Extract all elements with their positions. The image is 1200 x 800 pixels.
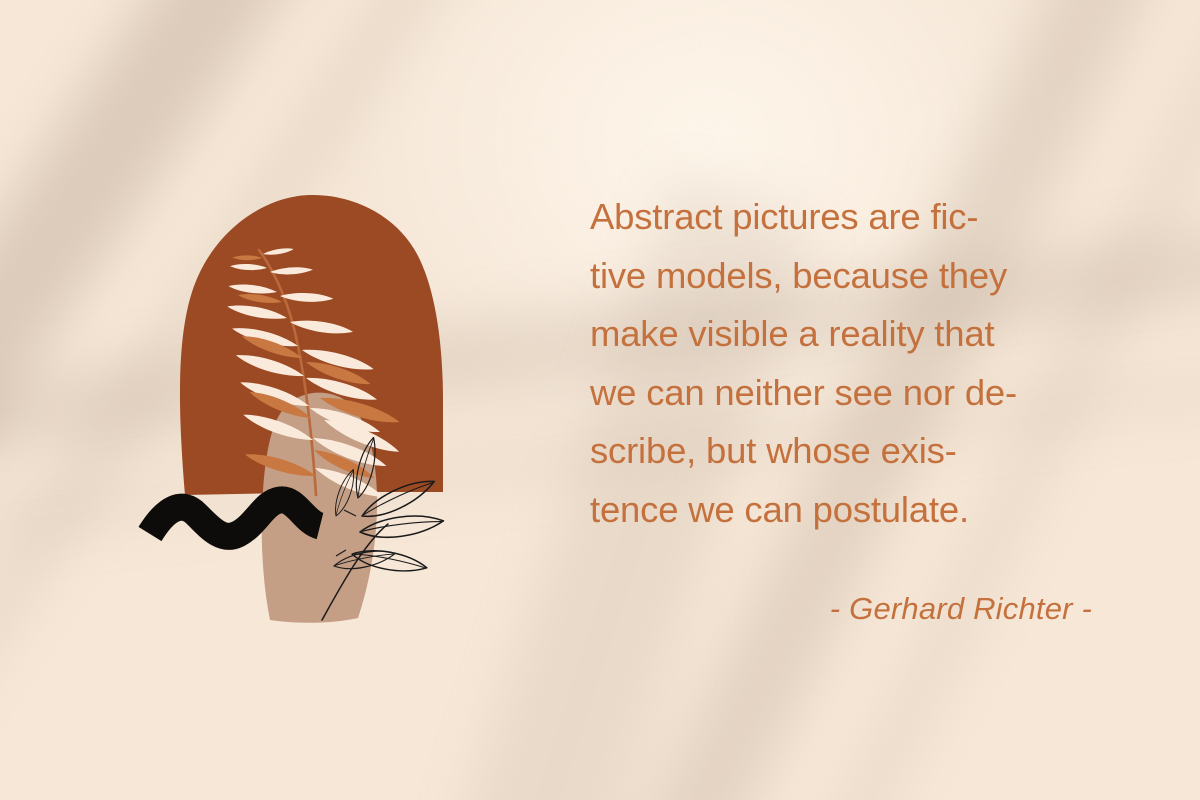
quote-attribution: - Gerhard Richter -	[590, 591, 1100, 627]
abstract-botanical-illustration	[130, 150, 470, 640]
quote-text: Abstract pictures are fic- tive models, …	[590, 188, 1100, 539]
quote-block: Abstract pictures are fic- tive models, …	[590, 188, 1100, 627]
quote-card: Abstract pictures are fic- tive models, …	[0, 0, 1200, 800]
